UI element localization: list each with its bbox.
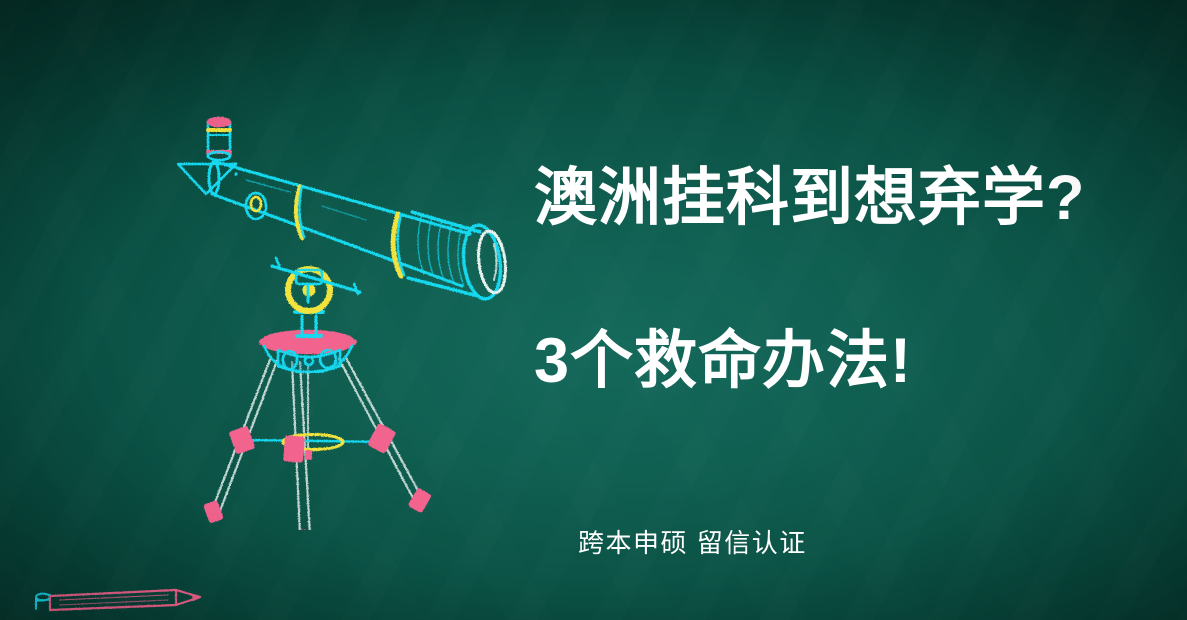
text-block: 澳洲挂科到想弃学? 3个救命办法! 跨本申硕 留信认证 (534, 0, 1134, 620)
poster-canvas: 澳洲挂科到想弃学? 3个救命办法! 跨本申硕 留信认证 (0, 0, 1187, 620)
pencil-tip (176, 590, 200, 605)
telescope-illustration (150, 110, 570, 530)
headline-line-2: 3个救命办法! (534, 330, 912, 393)
pencil-body (50, 590, 176, 610)
objective-lens (408, 212, 509, 301)
spreader-ring (246, 435, 386, 450)
headline-line-1: 澳洲挂科到想弃学? (534, 167, 1085, 230)
mount-head (262, 312, 354, 372)
finder-scope (178, 118, 236, 194)
subtitle-text: 跨本申硕 留信认证 (578, 523, 807, 560)
pencil-eraser (36, 594, 50, 609)
tripod-feet (203, 487, 432, 530)
pencil-illustration (30, 578, 220, 620)
tube-cradle (246, 193, 360, 302)
leg-clamps (228, 423, 396, 463)
